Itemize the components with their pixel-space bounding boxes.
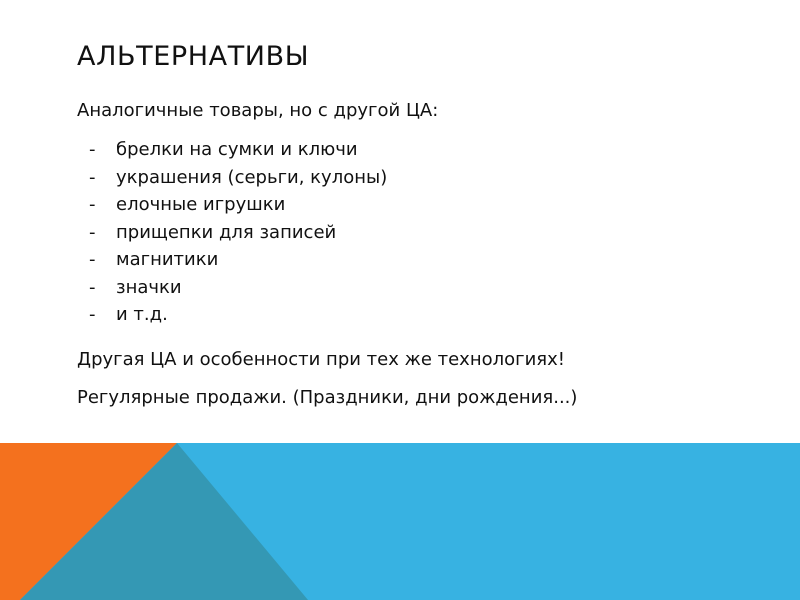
list-item: - значки bbox=[77, 274, 757, 302]
footer-shapes-svg bbox=[0, 443, 800, 600]
list-item-label: украшения (серьги, кулоны) bbox=[116, 167, 387, 188]
alternatives-list: - брелки на сумки и ключи - украшения (с… bbox=[77, 136, 757, 329]
dash-marker: - bbox=[89, 164, 96, 192]
dash-marker: - bbox=[89, 301, 96, 329]
dash-marker: - bbox=[89, 191, 96, 219]
dash-marker: - bbox=[89, 219, 96, 247]
list-item-label: брелки на сумки и ключи bbox=[116, 139, 358, 160]
list-item-label: прищепки для записей bbox=[116, 222, 336, 243]
list-item: - магнитики bbox=[77, 246, 757, 274]
decorative-footer-band bbox=[0, 443, 800, 600]
list-item: - украшения (серьги, кулоны) bbox=[77, 164, 757, 192]
list-item: - елочные игрушки bbox=[77, 191, 757, 219]
dash-marker: - bbox=[89, 136, 96, 164]
dash-marker: - bbox=[89, 246, 96, 274]
list-item-label: и т.д. bbox=[116, 304, 168, 325]
lead-paragraph: Аналогичные товары, но с другой ЦА: bbox=[77, 98, 757, 124]
closing-paragraph-1: Другая ЦА и особенности при тех же техно… bbox=[77, 341, 757, 379]
list-item-label: магнитики bbox=[116, 249, 218, 270]
slide-canvas: АЛЬТЕРНАТИВЫ Аналогичные товары, но с др… bbox=[0, 0, 800, 600]
page-title: АЛЬТЕРНАТИВЫ bbox=[77, 40, 309, 74]
slide-body: Аналогичные товары, но с другой ЦА: - бр… bbox=[77, 98, 757, 417]
list-item-label: елочные игрушки bbox=[116, 194, 285, 215]
closing-paragraph-2: Регулярные продажи. (Праздники, дни рожд… bbox=[77, 379, 757, 417]
list-item: - и т.д. bbox=[77, 301, 757, 329]
dash-marker: - bbox=[89, 274, 96, 302]
list-item: - прищепки для записей bbox=[77, 219, 757, 247]
list-item: - брелки на сумки и ключи bbox=[77, 136, 757, 164]
list-item-label: значки bbox=[116, 277, 182, 298]
